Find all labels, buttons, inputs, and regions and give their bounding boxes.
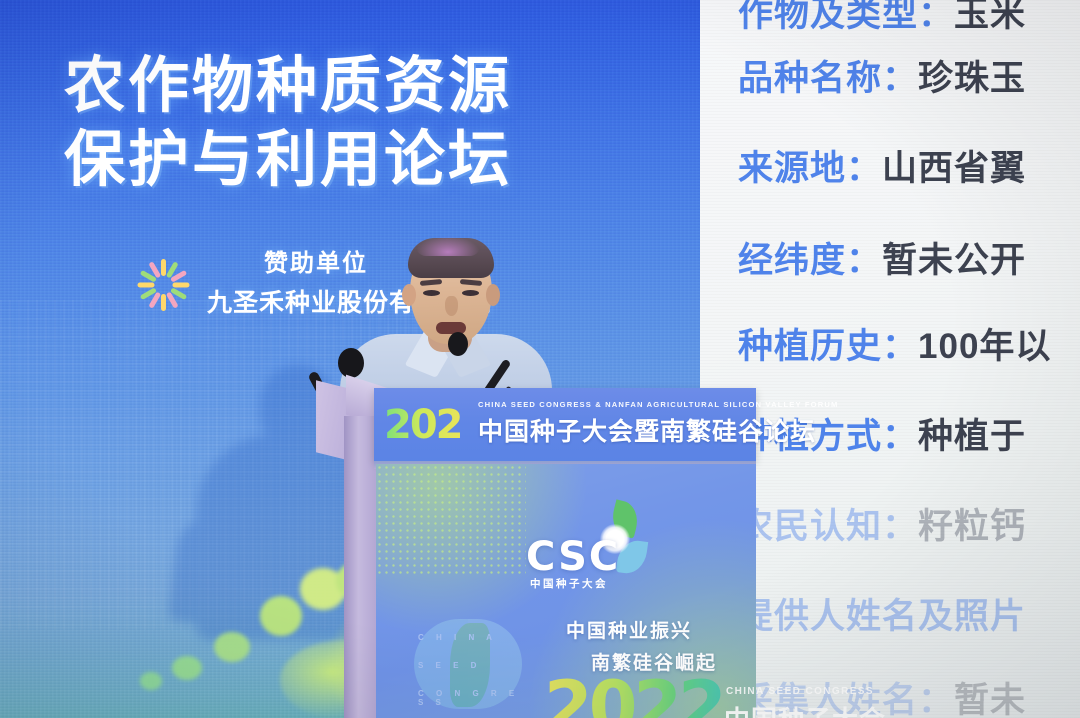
projection-value: 珍珠玉 (918, 59, 1026, 98)
podium-header-band: 2022 CHINA SEED CONGRESS & NANFAN AGRICU… (374, 388, 756, 461)
csc-logo: CSC 中国种子大会 (522, 502, 662, 594)
speaker-ear-left (402, 284, 416, 306)
projection-row: 提供人姓名及照片 (738, 588, 1026, 639)
speaker-ear-right (486, 284, 500, 306)
projection-value: 暂未公开 (882, 241, 1026, 280)
projection-key: 种植历史： (738, 327, 918, 366)
forum-title-line1: 农作物种质资源 (64, 48, 544, 122)
projection-row: 作物及类型：玉米 (738, 0, 1026, 37)
projection-value: 暂未 (954, 681, 1026, 718)
podium-big-year: 2022 (544, 672, 723, 718)
forum-title-line2: 保护与利用论坛 (64, 122, 544, 196)
projection-row: 品种名称：珍珠玉 (738, 50, 1026, 101)
podium-band-english-title: CHINA SEED CONGRESS & NANFAN AGRICULTURA… (478, 400, 838, 409)
podium-corner-english: CHINA SEED CONGRESS (726, 686, 874, 697)
projection-screen: 作物及类型：玉米 品种名称：珍珠玉 来源地：山西省翼 经纬度：暂未公开 种植历史… (700, 0, 1080, 718)
microphone-icon (338, 348, 364, 378)
stage-photo: 农作物种质资源 保护与利用论坛 赞助单位 九圣禾种业股份有限公司 作物及类型：玉… (0, 0, 1080, 718)
podium-slogan-line1: 中国种业振兴 (566, 616, 692, 643)
projection-value: 100年以 (918, 327, 1051, 366)
csc-watermark-mid: S E E D (418, 661, 481, 670)
projection-value: 籽粒钙 (918, 507, 1026, 546)
projection-row: 种植历史：100年以 (738, 318, 1051, 369)
projection-key: 来源地： (738, 149, 882, 188)
projection-row: 农民认知：籽粒钙 (738, 498, 1026, 549)
projection-value: 种植于 (918, 417, 1026, 456)
podium: 2022 CHINA SEED CONGRESS & NANFAN AGRICU… (316, 388, 756, 718)
projection-key: 经纬度： (738, 241, 882, 280)
projection-key: 作物及类型： (738, 0, 954, 34)
podium-band-chinese-title: 中国种子大会暨南繁硅谷论坛 (478, 412, 816, 448)
csc-watermark-top: C H I N A (418, 633, 497, 642)
podium-front-panel: CSC 中国种子大会 C H I N A S E E D C O N G R E… (376, 464, 756, 718)
csc-watermark-bottom: C O N G R E S S (418, 689, 524, 707)
projection-row: 来源地：山西省翼 (738, 140, 1026, 191)
halftone-dot-pattern (376, 464, 526, 574)
csc-watermark-logo: C H I N A S E E D C O N G R E S S (414, 619, 524, 709)
speaker-nose (445, 296, 458, 316)
podium-band-year: 2022 (384, 402, 460, 448)
projection-key: 提供人姓名及照片 (738, 597, 1026, 636)
projection-value: 玉米 (954, 0, 1026, 34)
csc-logo-subtitle: 中国种子大会 (530, 576, 608, 591)
csc-logo-text: CSC (526, 534, 620, 580)
sunburst-seed-icon (133, 270, 195, 324)
speaker-eye-right (462, 290, 479, 296)
podium-left-side (344, 416, 376, 718)
podium-corner-chinese: 中国种子大会 (724, 700, 886, 718)
projection-key: 品种名称： (738, 59, 918, 98)
projection-value: 山西省翼 (882, 149, 1026, 188)
microphone-icon (448, 332, 468, 356)
projection-row: 经纬度：暂未公开 (738, 232, 1026, 283)
projection-key: 农民认知： (738, 507, 918, 546)
stage-light-glow (416, 236, 480, 256)
forum-title: 农作物种质资源 保护与利用论坛 (64, 48, 544, 197)
speaker-eye-left (423, 290, 440, 296)
